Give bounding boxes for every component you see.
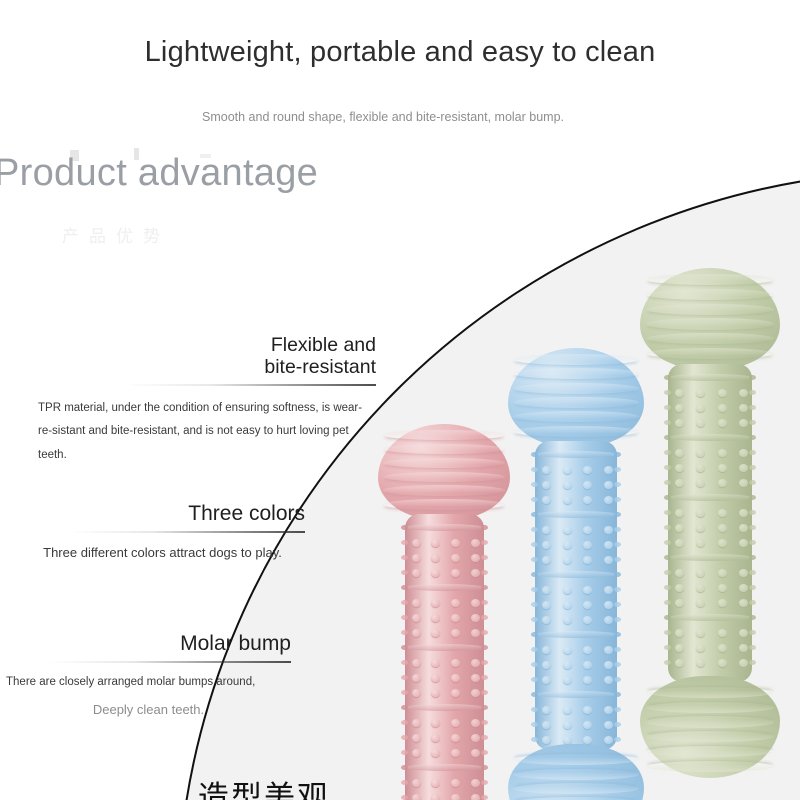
toy-molar-nub <box>583 661 592 669</box>
toy-molar-nub <box>563 526 572 534</box>
feature-heading: Flexible and bite-resistant <box>38 334 376 379</box>
toy-side-spike <box>614 452 621 457</box>
toy-molar-nub <box>471 719 480 727</box>
toy-molar-nub <box>675 449 684 457</box>
toy-rib-ring <box>646 304 775 315</box>
toy-side-spike <box>531 527 538 532</box>
toy-rib-band <box>668 554 752 561</box>
toy-molar-nub <box>563 721 572 729</box>
toy-side-spike <box>664 630 671 635</box>
toy-molar-nub <box>696 569 705 577</box>
toy-side-spike <box>614 482 621 487</box>
toy-molar-nub <box>471 734 480 742</box>
toy-molar-nub <box>412 569 421 577</box>
toy-side-spike <box>531 722 538 727</box>
toy-molar-nub <box>563 736 572 744</box>
toy-molar-nub <box>583 736 592 744</box>
toy-side-spike <box>531 737 538 742</box>
toy-molar-nub <box>718 464 727 472</box>
toy-side-spike <box>664 495 671 500</box>
toy-molar-nub <box>696 629 705 637</box>
toy-side-spike <box>614 677 621 682</box>
toy-nubbed-shaft <box>405 514 484 800</box>
feature-body: TPR material, under the condition of ens… <box>38 397 376 468</box>
toy-side-spike <box>749 600 756 605</box>
toy-molar-nub <box>583 706 592 714</box>
toy-molar-nub <box>431 599 440 607</box>
toy-rib-band <box>668 614 752 621</box>
toy-rib-ring <box>513 426 638 437</box>
toy-molar-nub <box>451 749 460 757</box>
toy-side-spike <box>401 720 408 725</box>
toy-molar-nub <box>718 584 727 592</box>
toy-rib-ring <box>513 754 638 765</box>
toy-molar-nub <box>542 481 551 489</box>
toy-rib-ring <box>513 783 638 794</box>
toy-molar-nub <box>431 554 440 562</box>
toy-molar-nub <box>718 404 727 412</box>
toy-side-spike <box>664 510 671 515</box>
toy-side-spike <box>401 705 408 710</box>
toy-side-spike <box>749 645 756 650</box>
toy-molar-nub <box>739 479 748 487</box>
toy-molar-nub <box>412 749 421 757</box>
toy-molar-nub <box>431 674 440 682</box>
toy-side-spike <box>664 480 671 485</box>
toy-molar-nub <box>718 479 727 487</box>
toy-molar-nub <box>451 599 460 607</box>
toy-side-spike <box>481 615 488 620</box>
toy-molar-nub <box>739 419 748 427</box>
toy-molar-nub <box>563 556 572 564</box>
toy-molar-nub <box>412 599 421 607</box>
feature-underline <box>70 531 305 533</box>
feature-body-line-1: There are closely arranged molar bumps a… <box>6 676 255 688</box>
toy-side-spike <box>749 480 756 485</box>
toy-molar-nub <box>604 526 613 534</box>
toy-molar-nub <box>675 509 684 517</box>
toy-molar-nub <box>542 736 551 744</box>
toy-rib-ring <box>383 444 504 455</box>
toy-molar-nub <box>471 689 480 697</box>
section-heading-ghost-text: 产品优势 <box>62 222 262 244</box>
toy-molar-nub <box>563 706 572 714</box>
toy-molar-nub <box>675 629 684 637</box>
feature-heading: Molar bump <box>6 632 291 656</box>
toy-side-spike <box>614 692 621 697</box>
toy-side-spike <box>664 450 671 455</box>
toy-molar-nub <box>696 449 705 457</box>
toy-molar-nub <box>583 526 592 534</box>
toy-molar-nub <box>542 496 551 504</box>
toy-side-spike <box>664 405 671 410</box>
toy-nubbed-shaft <box>668 364 752 682</box>
toy-side-spike <box>664 540 671 545</box>
toy-rib-band <box>668 494 752 501</box>
toy-side-spike <box>531 542 538 547</box>
toy-molar-nub <box>604 706 613 714</box>
toy-side-spike <box>664 615 671 620</box>
toy-rib-ring <box>513 411 638 422</box>
toy-molar-nub <box>675 389 684 397</box>
toy-molar-nub <box>583 481 592 489</box>
toy-side-spike <box>614 662 621 667</box>
toy-side-spike <box>749 540 756 545</box>
toy-molar-nub <box>718 389 727 397</box>
toy-molar-nub <box>542 676 551 684</box>
toy-molar-nub <box>542 646 551 654</box>
toy-molar-nub <box>471 614 480 622</box>
toy-molar-nub <box>583 586 592 594</box>
toy-molar-nub <box>675 569 684 577</box>
toy-molar-nub <box>675 464 684 472</box>
toy-side-spike <box>749 630 756 635</box>
toy-molar-nub <box>675 419 684 427</box>
toy-side-spike <box>664 375 671 380</box>
toy-rib-band <box>405 644 484 651</box>
toy-molar-nub <box>542 466 551 474</box>
toy-rib-ring <box>383 472 504 483</box>
toy-molar-nub <box>542 616 551 624</box>
toy-side-spike <box>481 780 488 785</box>
toy-molar-nub <box>563 601 572 609</box>
toy-side-spike <box>401 525 408 530</box>
toy-side-spike <box>614 467 621 472</box>
toy-molar-nub <box>471 794 480 800</box>
toy-molar-nub <box>542 706 551 714</box>
toy-side-spike <box>614 572 621 577</box>
toy-molar-nub <box>718 599 727 607</box>
toy-molar-nub <box>718 644 727 652</box>
toy-molar-nub <box>451 539 460 547</box>
toy-side-spike <box>614 542 621 547</box>
toy-molar-nub <box>451 674 460 682</box>
toy-molar-nub <box>451 614 460 622</box>
toy-molar-nub <box>563 586 572 594</box>
toy-molar-nub <box>431 659 440 667</box>
toy-rib-band <box>535 571 617 578</box>
page-title: Lightweight, portable and easy to clean <box>0 36 800 69</box>
toy-rib-ring <box>646 289 775 300</box>
toy-side-spike <box>749 420 756 425</box>
toy-molar-nub <box>431 689 440 697</box>
toy-molar-nub <box>604 616 613 624</box>
toy-molar-nub <box>675 524 684 532</box>
toy-rib-ring <box>513 383 638 394</box>
toy-molar-nub <box>412 554 421 562</box>
feature-underline <box>48 661 291 663</box>
section-heading: Product advantage <box>0 152 354 195</box>
toy-molar-nub <box>451 719 460 727</box>
toy-molar-nub <box>451 554 460 562</box>
toy-rib-band <box>405 764 484 771</box>
toy-molar-nub <box>696 539 705 547</box>
toy-molar-nub <box>412 719 421 727</box>
toy-side-spike <box>481 660 488 665</box>
toy-side-spike <box>614 707 621 712</box>
toy-side-spike <box>749 525 756 530</box>
toy-rib-ring <box>646 731 775 742</box>
toy-molar-nub <box>451 659 460 667</box>
toy-molar-nub <box>583 496 592 504</box>
toy-molar-nub <box>675 584 684 592</box>
toy-side-spike <box>749 555 756 560</box>
feature-body-line-2: Deeply clean teeth. <box>6 700 291 720</box>
toy-molar-nub <box>542 661 551 669</box>
blue-chew-toy <box>508 348 644 800</box>
toy-side-spike <box>481 645 488 650</box>
toy-side-spike <box>749 465 756 470</box>
toy-side-spike <box>401 615 408 620</box>
toy-side-spike <box>614 512 621 517</box>
toy-molar-nub <box>563 616 572 624</box>
toy-molar-nub <box>583 466 592 474</box>
toy-side-spike <box>664 465 671 470</box>
toy-rib-band <box>535 631 617 638</box>
toy-rib-band <box>535 691 617 698</box>
toy-molar-nub <box>583 616 592 624</box>
toy-molar-nub <box>583 721 592 729</box>
toy-side-spike <box>531 602 538 607</box>
toy-side-spike <box>481 705 488 710</box>
toy-side-spike <box>531 707 538 712</box>
toy-side-spike <box>749 450 756 455</box>
toy-molar-nub <box>718 569 727 577</box>
toy-side-spike <box>531 677 538 682</box>
toy-rib-ring <box>513 368 638 379</box>
toy-molar-nub <box>542 541 551 549</box>
toy-side-spike <box>664 420 671 425</box>
toy-rib-ring <box>513 769 638 780</box>
toy-rib-ring <box>383 499 504 510</box>
toy-side-spike <box>481 720 488 725</box>
toy-side-spike <box>401 630 408 635</box>
toy-side-spike <box>401 675 408 680</box>
toy-molar-nub <box>471 539 480 547</box>
toy-molar-nub <box>718 539 727 547</box>
toy-rib-ring <box>646 348 775 359</box>
toy-molar-nub <box>739 404 748 412</box>
toy-molar-nub <box>563 496 572 504</box>
toy-molar-nub <box>696 389 705 397</box>
toy-molar-nub <box>675 479 684 487</box>
toy-rib-ring <box>646 716 775 727</box>
toy-side-spike <box>531 692 538 697</box>
toy-side-spike <box>664 390 671 395</box>
toy-molar-nub <box>542 526 551 534</box>
toy-molar-nub <box>739 539 748 547</box>
toy-rib-band <box>535 511 617 518</box>
toy-molar-nub <box>696 524 705 532</box>
toy-side-spike <box>531 497 538 502</box>
toy-molar-nub <box>412 734 421 742</box>
toy-molar-nub <box>604 586 613 594</box>
toy-rib-ring <box>383 458 504 469</box>
toy-molar-nub <box>563 646 572 654</box>
toy-side-spike <box>531 662 538 667</box>
toy-side-spike <box>481 735 488 740</box>
footer-caption: 造型美观 <box>198 772 458 800</box>
toy-molar-nub <box>696 479 705 487</box>
toy-side-spike <box>614 647 621 652</box>
toy-molar-nub <box>451 569 460 577</box>
toy-molar-nub <box>471 749 480 757</box>
toy-molar-nub <box>563 661 572 669</box>
toy-side-spike <box>614 497 621 502</box>
toy-side-spike <box>749 495 756 500</box>
toy-molar-nub <box>471 569 480 577</box>
toy-molar-nub <box>471 629 480 637</box>
toy-molar-nub <box>583 646 592 654</box>
toy-side-spike <box>401 660 408 665</box>
toy-molar-nub <box>563 481 572 489</box>
toy-side-spike <box>401 555 408 560</box>
feature-body: There are closely arranged molar bumps a… <box>6 674 291 720</box>
toy-molar-nub <box>718 629 727 637</box>
toy-side-spike <box>481 750 488 755</box>
toy-molar-nub <box>696 584 705 592</box>
toy-side-spike <box>531 467 538 472</box>
toy-molar-nub <box>739 599 748 607</box>
toy-molar-nub <box>696 509 705 517</box>
toy-molar-nub <box>604 646 613 654</box>
toy-molar-nub <box>542 601 551 609</box>
toy-rib-ring <box>383 485 504 496</box>
toy-side-spike <box>614 617 621 622</box>
toy-side-spike <box>749 510 756 515</box>
toy-molar-bumps <box>405 514 484 800</box>
toy-side-spike <box>481 690 488 695</box>
toy-side-spike <box>401 600 408 605</box>
toy-molar-nub <box>431 569 440 577</box>
toy-molar-nub <box>718 419 727 427</box>
toy-side-spike <box>481 600 488 605</box>
toy-molar-nub <box>412 539 421 547</box>
toy-side-spike <box>401 750 408 755</box>
toy-top-bulb <box>508 348 644 447</box>
toy-molar-nub <box>604 496 613 504</box>
toy-rib-ring <box>646 333 775 344</box>
toy-side-spike <box>531 452 538 457</box>
feature-three-colors: Three colors Three different colors attr… <box>20 502 305 562</box>
toy-rib-ring <box>646 746 775 757</box>
feature-heading: Three colors <box>20 502 305 526</box>
toy-molar-nub <box>431 749 440 757</box>
toy-molar-nub <box>718 509 727 517</box>
toy-molar-nub <box>412 659 421 667</box>
toy-rib-ring <box>646 318 775 329</box>
toy-side-spike <box>401 540 408 545</box>
toy-side-spike <box>614 587 621 592</box>
toy-molar-nub <box>471 779 480 787</box>
toy-side-spike <box>481 675 488 680</box>
toy-side-spike <box>531 587 538 592</box>
feature-body: Three different colors attract dogs to p… <box>20 544 305 562</box>
toy-bottom-bulb <box>640 676 780 778</box>
green-chew-toy <box>640 268 780 778</box>
feature-flexible-bite-resistant: Flexible and bite-resistant TPR material… <box>38 334 376 468</box>
toy-molar-nub <box>696 644 705 652</box>
toy-side-spike <box>664 645 671 650</box>
toy-side-spike <box>481 765 488 770</box>
toy-side-spike <box>481 540 488 545</box>
toy-molar-nub <box>604 736 613 744</box>
toy-side-spike <box>664 570 671 575</box>
toy-molar-nub <box>696 464 705 472</box>
toy-molar-nub <box>542 586 551 594</box>
toy-molar-nub <box>739 629 748 637</box>
toy-side-spike <box>401 645 408 650</box>
toy-side-spike <box>531 557 538 562</box>
toy-side-spike <box>664 600 671 605</box>
toy-molar-nub <box>412 629 421 637</box>
toy-molar-nub <box>718 524 727 532</box>
toy-side-spike <box>749 390 756 395</box>
toy-side-spike <box>749 585 756 590</box>
toy-side-spike <box>401 735 408 740</box>
toy-nubbed-shaft <box>535 441 617 750</box>
toy-side-spike <box>749 405 756 410</box>
toy-side-spike <box>531 647 538 652</box>
toy-molar-nub <box>412 614 421 622</box>
toy-side-spike <box>664 585 671 590</box>
toy-molar-nub <box>471 599 480 607</box>
toy-side-spike <box>481 570 488 575</box>
toy-side-spike <box>531 482 538 487</box>
toy-molar-nub <box>739 389 748 397</box>
toy-side-spike <box>614 722 621 727</box>
toy-molar-nub <box>431 734 440 742</box>
toy-molar-nub <box>739 584 748 592</box>
toy-side-spike <box>614 632 621 637</box>
page-subtitle: Smooth and round shape, flexible and bit… <box>202 108 574 126</box>
toy-side-spike <box>614 602 621 607</box>
toy-side-spike <box>401 570 408 575</box>
toy-molar-nub <box>739 449 748 457</box>
product-advantage-page: Lightweight, portable and easy to clean … <box>0 0 800 800</box>
toy-molar-nub <box>739 524 748 532</box>
toy-molar-nub <box>604 466 613 474</box>
toy-molar-nub <box>451 734 460 742</box>
toy-rib-band <box>668 374 752 381</box>
toy-molar-nub <box>739 659 748 667</box>
toy-molar-nub <box>583 676 592 684</box>
toy-molar-nub <box>696 419 705 427</box>
toy-molar-nub <box>675 644 684 652</box>
toy-side-spike <box>401 690 408 695</box>
toy-molar-nub <box>718 449 727 457</box>
toy-molar-nub <box>583 601 592 609</box>
toy-molar-nub <box>604 661 613 669</box>
toy-molar-nub <box>431 539 440 547</box>
toy-molar-nub <box>675 599 684 607</box>
toy-side-spike <box>614 737 621 742</box>
toy-side-spike <box>749 435 756 440</box>
toy-side-spike <box>614 557 621 562</box>
toy-molar-nub <box>471 674 480 682</box>
toy-side-spike <box>401 585 408 590</box>
toy-molar-nub <box>739 509 748 517</box>
toy-side-spike <box>749 570 756 575</box>
toy-molar-nub <box>542 556 551 564</box>
toy-molar-nub <box>451 629 460 637</box>
toy-molar-nub <box>412 674 421 682</box>
toy-molar-nub <box>696 659 705 667</box>
toy-side-spike <box>749 615 756 620</box>
toy-side-spike <box>531 617 538 622</box>
toy-molar-nub <box>604 481 613 489</box>
toy-molar-nub <box>451 689 460 697</box>
